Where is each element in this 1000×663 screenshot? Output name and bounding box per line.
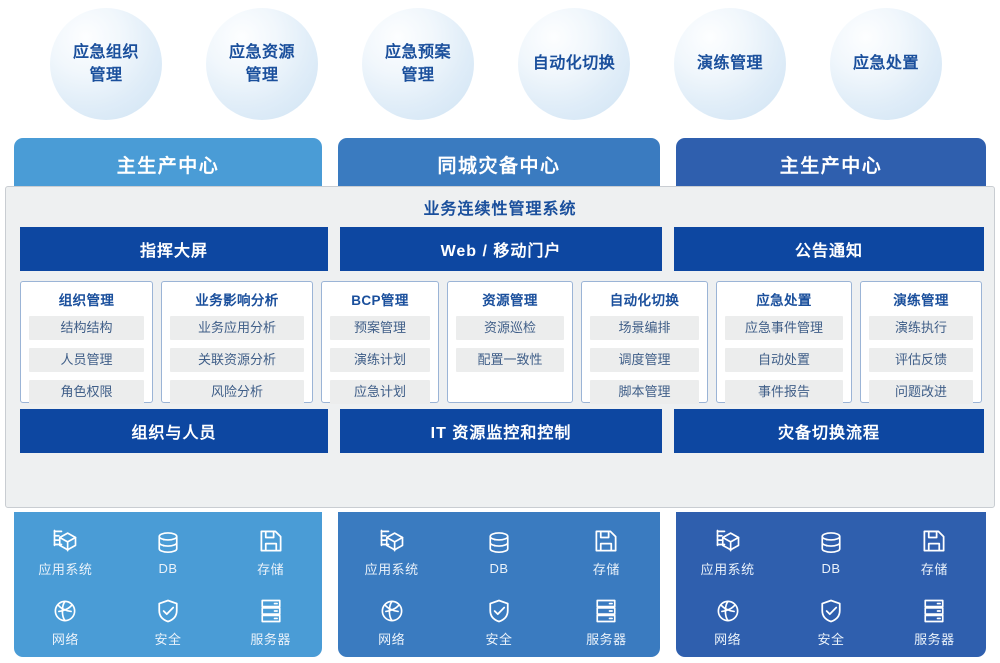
feature-card-item[interactable]: 角色权限 bbox=[29, 380, 144, 404]
capability-bubble[interactable]: 应急资源管理 bbox=[206, 8, 318, 120]
infrastructure-item[interactable]: 存储 bbox=[920, 527, 948, 578]
app-system-icon bbox=[714, 527, 742, 555]
shield-check-icon bbox=[154, 597, 182, 625]
infrastructure-item-label: 服务器 bbox=[914, 629, 955, 648]
infrastructure-item[interactable]: 网络 bbox=[378, 597, 406, 648]
storage-icon bbox=[920, 527, 948, 555]
app-system-icon bbox=[51, 527, 79, 555]
feature-card[interactable]: 业务影响分析业务应用分析关联资源分析风险分析 bbox=[161, 281, 313, 403]
process-band-item[interactable]: IT 资源监控和控制 bbox=[340, 409, 662, 453]
storage-icon bbox=[592, 527, 620, 555]
feature-card-title: 组织管理 bbox=[29, 289, 144, 309]
feature-card-item[interactable]: 自动处置 bbox=[725, 348, 843, 372]
network-globe-icon bbox=[51, 597, 79, 625]
feature-card-item[interactable]: 风险分析 bbox=[170, 380, 304, 404]
infrastructure-item[interactable]: 应用系统 bbox=[38, 527, 92, 578]
infrastructure-item[interactable]: 服务器 bbox=[586, 597, 627, 648]
feature-card-item[interactable]: 演练执行 bbox=[869, 316, 973, 340]
infrastructure-item[interactable]: 存储 bbox=[257, 527, 285, 578]
capability-bubble-line: 管理 bbox=[73, 64, 139, 87]
data-center-header[interactable]: 主生产中心 bbox=[676, 138, 986, 190]
diagram-canvas: 应急组织管理应急资源管理应急预案管理自动化切换演练管理应急处置 主生产中心同城灾… bbox=[0, 0, 1000, 663]
data-center-header-label: 主生产中心 bbox=[117, 151, 220, 178]
capability-bubble-line: 应急组织 bbox=[73, 41, 139, 64]
capability-bubble[interactable]: 应急处置 bbox=[830, 8, 942, 120]
infrastructure-item-label: 存储 bbox=[921, 559, 948, 578]
process-band-item[interactable]: 组织与人员 bbox=[20, 409, 328, 453]
infrastructure-item-label: 服务器 bbox=[250, 629, 291, 648]
capability-bubble-line: 演练管理 bbox=[697, 52, 763, 75]
infrastructure-item[interactable]: 服务器 bbox=[250, 597, 291, 648]
capability-bubble-label: 应急预案管理 bbox=[385, 41, 451, 87]
infrastructure-item[interactable]: DB bbox=[154, 529, 182, 576]
infrastructure-item-label: 应用系统 bbox=[701, 559, 755, 578]
feature-card[interactable]: BCP管理预案管理演练计划应急计划 bbox=[321, 281, 439, 403]
capability-bubble-label: 演练管理 bbox=[697, 52, 763, 75]
infrastructure-item[interactable]: DB bbox=[817, 529, 845, 576]
infrastructure-item[interactable]: 安全 bbox=[154, 597, 182, 648]
infrastructure-item[interactable]: 网络 bbox=[51, 597, 79, 648]
feature-card-item[interactable]: 业务应用分析 bbox=[170, 316, 304, 340]
server-rack-icon bbox=[592, 597, 620, 625]
infrastructure-item[interactable]: 应用系统 bbox=[365, 527, 419, 578]
storage-icon bbox=[257, 527, 285, 555]
database-icon bbox=[817, 529, 845, 557]
feature-card[interactable]: 资源管理资源巡检配置一致性 bbox=[447, 281, 573, 403]
infrastructure-item-label: 应用系统 bbox=[38, 559, 92, 578]
feature-card-item[interactable]: 应急事件管理 bbox=[725, 316, 843, 340]
feature-card-title: 自动化切换 bbox=[590, 289, 699, 309]
infrastructure-item[interactable]: 安全 bbox=[817, 597, 845, 648]
feature-card-item[interactable]: 脚本管理 bbox=[590, 380, 699, 404]
data-center-header[interactable]: 主生产中心 bbox=[14, 138, 322, 190]
process-band: 组织与人员IT 资源监控和控制灾备切换流程 bbox=[6, 409, 996, 453]
feature-card-item[interactable]: 问题改进 bbox=[869, 380, 973, 404]
feature-card-item[interactable]: 应急计划 bbox=[330, 380, 430, 404]
infrastructure-item-label: DB bbox=[158, 561, 177, 576]
data-center-header[interactable]: 同城灾备中心 bbox=[338, 138, 660, 190]
infrastructure-panel: 应用系统DB存储网络安全服务器 bbox=[14, 512, 322, 657]
system-title: 业务连续性管理系统 bbox=[6, 187, 994, 227]
feature-card-item[interactable]: 配置一致性 bbox=[456, 348, 564, 372]
feature-card[interactable]: 应急处置应急事件管理自动处置事件报告 bbox=[716, 281, 852, 403]
infrastructure-item-label: 安全 bbox=[817, 629, 844, 648]
capability-bubble-label: 应急处置 bbox=[853, 52, 919, 75]
capability-bubble-label: 应急资源管理 bbox=[229, 41, 295, 87]
database-icon bbox=[485, 529, 513, 557]
feature-card[interactable]: 组织管理结构结构人员管理角色权限 bbox=[20, 281, 153, 403]
feature-card-item[interactable]: 演练计划 bbox=[330, 348, 430, 372]
network-globe-icon bbox=[714, 597, 742, 625]
data-center-header-label: 主生产中心 bbox=[780, 151, 883, 178]
server-rack-icon bbox=[257, 597, 285, 625]
infrastructure-item[interactable]: 安全 bbox=[485, 597, 513, 648]
channel-band-item[interactable]: Web / 移动门户 bbox=[340, 227, 662, 271]
data-center-header-label: 同城灾备中心 bbox=[437, 151, 560, 178]
network-globe-icon bbox=[378, 597, 406, 625]
capability-bubble[interactable]: 演练管理 bbox=[674, 8, 786, 120]
capability-bubble-row: 应急组织管理应急资源管理应急预案管理自动化切换演练管理应急处置 bbox=[0, 8, 1000, 126]
infrastructure-item-label: 网络 bbox=[378, 629, 405, 648]
capability-bubble[interactable]: 应急组织管理 bbox=[50, 8, 162, 120]
feature-card-title: BCP管理 bbox=[330, 289, 430, 309]
infrastructure-item-label: DB bbox=[489, 561, 508, 576]
capability-bubble-line: 自动化切换 bbox=[533, 52, 616, 75]
feature-card-title: 演练管理 bbox=[869, 289, 973, 309]
infrastructure-item-label: 服务器 bbox=[586, 629, 627, 648]
shield-check-icon bbox=[817, 597, 845, 625]
band-item-label: 组织与人员 bbox=[131, 419, 216, 443]
process-band-item[interactable]: 灾备切换流程 bbox=[674, 409, 984, 453]
feature-card-item[interactable]: 评估反馈 bbox=[869, 348, 973, 372]
infrastructure-item[interactable]: 服务器 bbox=[914, 597, 955, 648]
band-item-label: 指挥大屏 bbox=[140, 237, 208, 261]
feature-card-item[interactable]: 结构结构 bbox=[29, 316, 144, 340]
infrastructure-item-label: DB bbox=[821, 561, 840, 576]
database-icon bbox=[154, 529, 182, 557]
channel-band-item[interactable]: 指挥大屏 bbox=[20, 227, 328, 271]
infrastructure-panel: 应用系统DB存储网络安全服务器 bbox=[676, 512, 986, 657]
band-item-label: 灾备切换流程 bbox=[778, 419, 880, 443]
band-item-label: IT 资源监控和控制 bbox=[431, 419, 572, 443]
infrastructure-item-label: 网络 bbox=[52, 629, 79, 648]
infrastructure-panel: 应用系统DB存储网络安全服务器 bbox=[338, 512, 660, 657]
capability-bubble-label: 应急组织管理 bbox=[73, 41, 139, 87]
bcm-system-panel: 业务连续性管理系统 指挥大屏Web / 移动门户公告通知 组织管理结构结构人员管… bbox=[5, 186, 995, 508]
infrastructure-item-label: 存储 bbox=[257, 559, 284, 578]
infrastructure-item-label: 安全 bbox=[154, 629, 181, 648]
infrastructure-item-label: 安全 bbox=[485, 629, 512, 648]
capability-bubble-label: 自动化切换 bbox=[533, 52, 616, 75]
feature-card-title: 应急处置 bbox=[725, 289, 843, 309]
capability-bubble-line: 应急处置 bbox=[853, 52, 919, 75]
infrastructure-item[interactable]: 应用系统 bbox=[701, 527, 755, 578]
capability-bubble[interactable]: 自动化切换 bbox=[518, 8, 630, 120]
feature-card-title: 资源管理 bbox=[456, 289, 564, 309]
capability-bubble-line: 应急预案 bbox=[385, 41, 451, 64]
band-item-label: Web / 移动门户 bbox=[441, 237, 562, 261]
infrastructure-item[interactable]: 网络 bbox=[714, 597, 742, 648]
infrastructure-item-label: 网络 bbox=[714, 629, 741, 648]
feature-card-item[interactable]: 预案管理 bbox=[330, 316, 430, 340]
feature-card-item[interactable]: 事件报告 bbox=[725, 380, 843, 404]
channel-band-item[interactable]: 公告通知 bbox=[674, 227, 984, 271]
app-system-icon bbox=[378, 527, 406, 555]
feature-card-item[interactable]: 人员管理 bbox=[29, 348, 144, 372]
capability-bubble-line: 管理 bbox=[229, 64, 295, 87]
infrastructure-item-label: 存储 bbox=[593, 559, 620, 578]
feature-card-item[interactable]: 场景编排 bbox=[590, 316, 699, 340]
feature-card-item[interactable]: 调度管理 bbox=[590, 348, 699, 372]
feature-card-item[interactable]: 资源巡检 bbox=[456, 316, 564, 340]
infrastructure-item[interactable]: 存储 bbox=[592, 527, 620, 578]
feature-card-item[interactable]: 关联资源分析 bbox=[170, 348, 304, 372]
feature-card[interactable]: 演练管理演练执行评估反馈问题改进 bbox=[860, 281, 982, 403]
feature-card-row: 组织管理结构结构人员管理角色权限业务影响分析业务应用分析关联资源分析风险分析BC… bbox=[6, 281, 996, 403]
capability-bubble[interactable]: 应急预案管理 bbox=[362, 8, 474, 120]
infrastructure-item[interactable]: DB bbox=[485, 529, 513, 576]
feature-card-title: 业务影响分析 bbox=[170, 289, 304, 309]
infrastructure-item-label: 应用系统 bbox=[365, 559, 419, 578]
capability-bubble-line: 管理 bbox=[385, 64, 451, 87]
server-rack-icon bbox=[920, 597, 948, 625]
band-item-label: 公告通知 bbox=[795, 237, 863, 261]
channel-band: 指挥大屏Web / 移动门户公告通知 bbox=[6, 227, 996, 271]
capability-bubble-line: 应急资源 bbox=[229, 41, 295, 64]
feature-card[interactable]: 自动化切换场景编排调度管理脚本管理 bbox=[581, 281, 708, 403]
shield-check-icon bbox=[485, 597, 513, 625]
